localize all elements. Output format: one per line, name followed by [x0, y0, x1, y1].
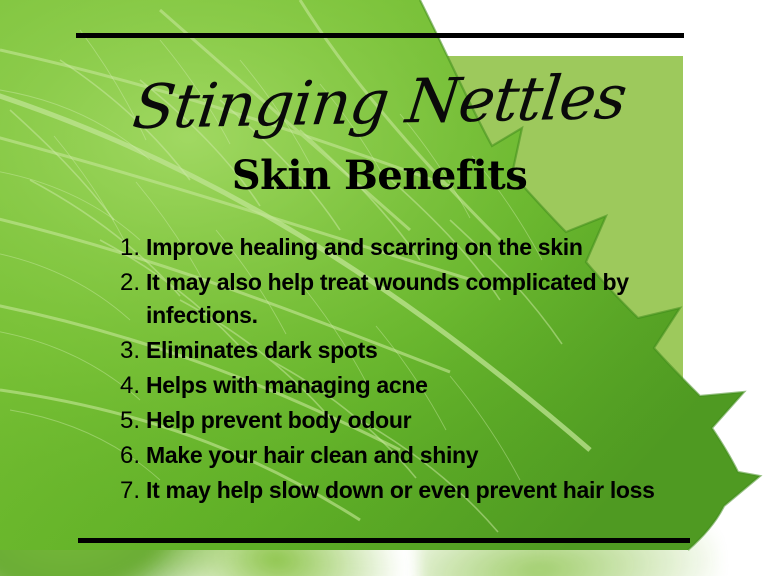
list-item-text: Helps with managing acne [140, 369, 674, 402]
list-item-text: Improve healing and scarring on the skin [140, 231, 674, 264]
poster-canvas: Stinging Nettles Skin Benefits 1 Improve… [0, 0, 768, 576]
list-item-number: 3 [114, 334, 140, 367]
benefits-list: 1 Improve healing and scarring on the sk… [114, 231, 674, 509]
list-item-text: Help prevent body odour [140, 404, 674, 437]
list-item-text: Eliminates dark spots [140, 334, 674, 367]
list-item-number: 4 [114, 369, 140, 402]
list-item-text: It may help slow down or even prevent ha… [140, 474, 674, 507]
top-divider-rule [76, 33, 684, 38]
bottom-divider-rule [78, 538, 690, 543]
list-item: 7 It may help slow down or even prevent … [114, 474, 674, 507]
page-subtitle: Skin Benefits [76, 156, 683, 196]
list-item: 6 Make your hair clean and shiny [114, 439, 674, 472]
list-item: 1 Improve healing and scarring on the sk… [114, 231, 674, 264]
list-item-text: It may also help treat wounds complicate… [140, 266, 674, 332]
list-item: 2 It may also help treat wounds complica… [114, 266, 674, 332]
list-item-number: 5 [114, 404, 140, 437]
poster-content: Stinging Nettles Skin Benefits 1 Improve… [76, 56, 683, 518]
page-title-script: Stinging Nettles [72, 66, 688, 140]
list-item-number: 1 [114, 231, 140, 264]
list-item: 4 Helps with managing acne [114, 369, 674, 402]
list-item-text: Make your hair clean and shiny [140, 439, 674, 472]
list-item-number: 2 [114, 266, 140, 299]
list-item-number: 6 [114, 439, 140, 472]
list-item: 3 Eliminates dark spots [114, 334, 674, 367]
list-item: 5 Help prevent body odour [114, 404, 674, 437]
list-item-number: 7 [114, 474, 140, 507]
